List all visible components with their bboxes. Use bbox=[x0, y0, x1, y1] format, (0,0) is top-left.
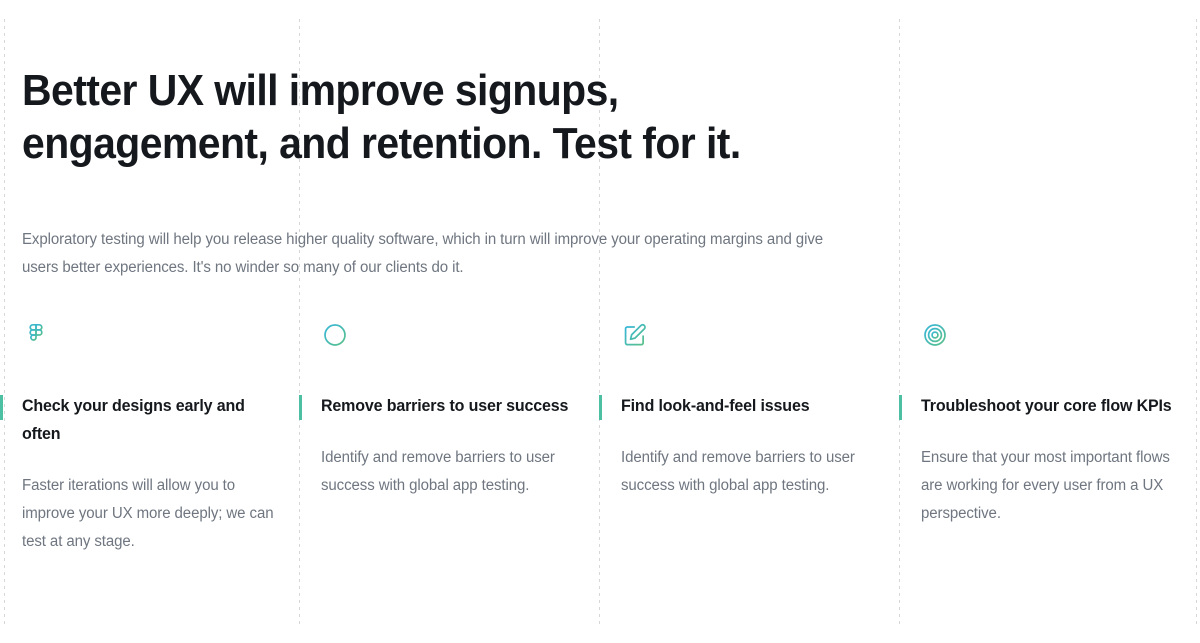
feature-title: Troubleshoot your core flow KPIs bbox=[921, 392, 1175, 420]
feature-title: Check your designs early and often bbox=[22, 392, 276, 448]
feature-card: Remove barriers to user success Identify… bbox=[321, 322, 583, 500]
feature-card: Troubleshoot your core flow KPIs Ensure … bbox=[921, 322, 1183, 528]
accent-bar bbox=[299, 395, 302, 420]
accent-bar bbox=[599, 395, 602, 420]
feature-body: Ensure that your most important flows ar… bbox=[921, 444, 1175, 528]
feature-heading-row: Check your designs early and often bbox=[22, 392, 284, 448]
target-icon bbox=[922, 322, 948, 348]
feature-card: Find look-and-feel issues Identify and r… bbox=[621, 322, 883, 500]
feature-heading-row: Troubleshoot your core flow KPIs bbox=[921, 392, 1183, 420]
feature-body: Faster iterations will allow you to impr… bbox=[22, 472, 276, 556]
feature-heading-row: Find look-and-feel issues bbox=[621, 392, 883, 420]
marketing-section: Better UX will improve signups, engageme… bbox=[0, 0, 1200, 643]
accent-bar bbox=[899, 395, 902, 420]
accent-bar bbox=[0, 395, 3, 420]
feature-title: Find look-and-feel issues bbox=[621, 392, 875, 420]
feature-body: Identify and remove barriers to user suc… bbox=[321, 444, 575, 500]
edit-square-icon bbox=[622, 322, 648, 348]
feature-heading-row: Remove barriers to user success bbox=[321, 392, 583, 420]
feature-card: Check your designs early and often Faste… bbox=[22, 322, 284, 556]
page-title: Better UX will improve signups, engageme… bbox=[22, 64, 840, 170]
feature-title: Remove barriers to user success bbox=[321, 392, 575, 420]
feature-columns: Check your designs early and often Faste… bbox=[0, 322, 1200, 622]
hero-subtitle: Exploratory testing will help you releas… bbox=[22, 226, 856, 282]
feature-body: Identify and remove barriers to user suc… bbox=[621, 444, 875, 500]
figma-icon bbox=[23, 322, 49, 348]
hero-block: Better UX will improve signups, engageme… bbox=[22, 64, 902, 170]
alert-circle-icon bbox=[322, 322, 348, 348]
